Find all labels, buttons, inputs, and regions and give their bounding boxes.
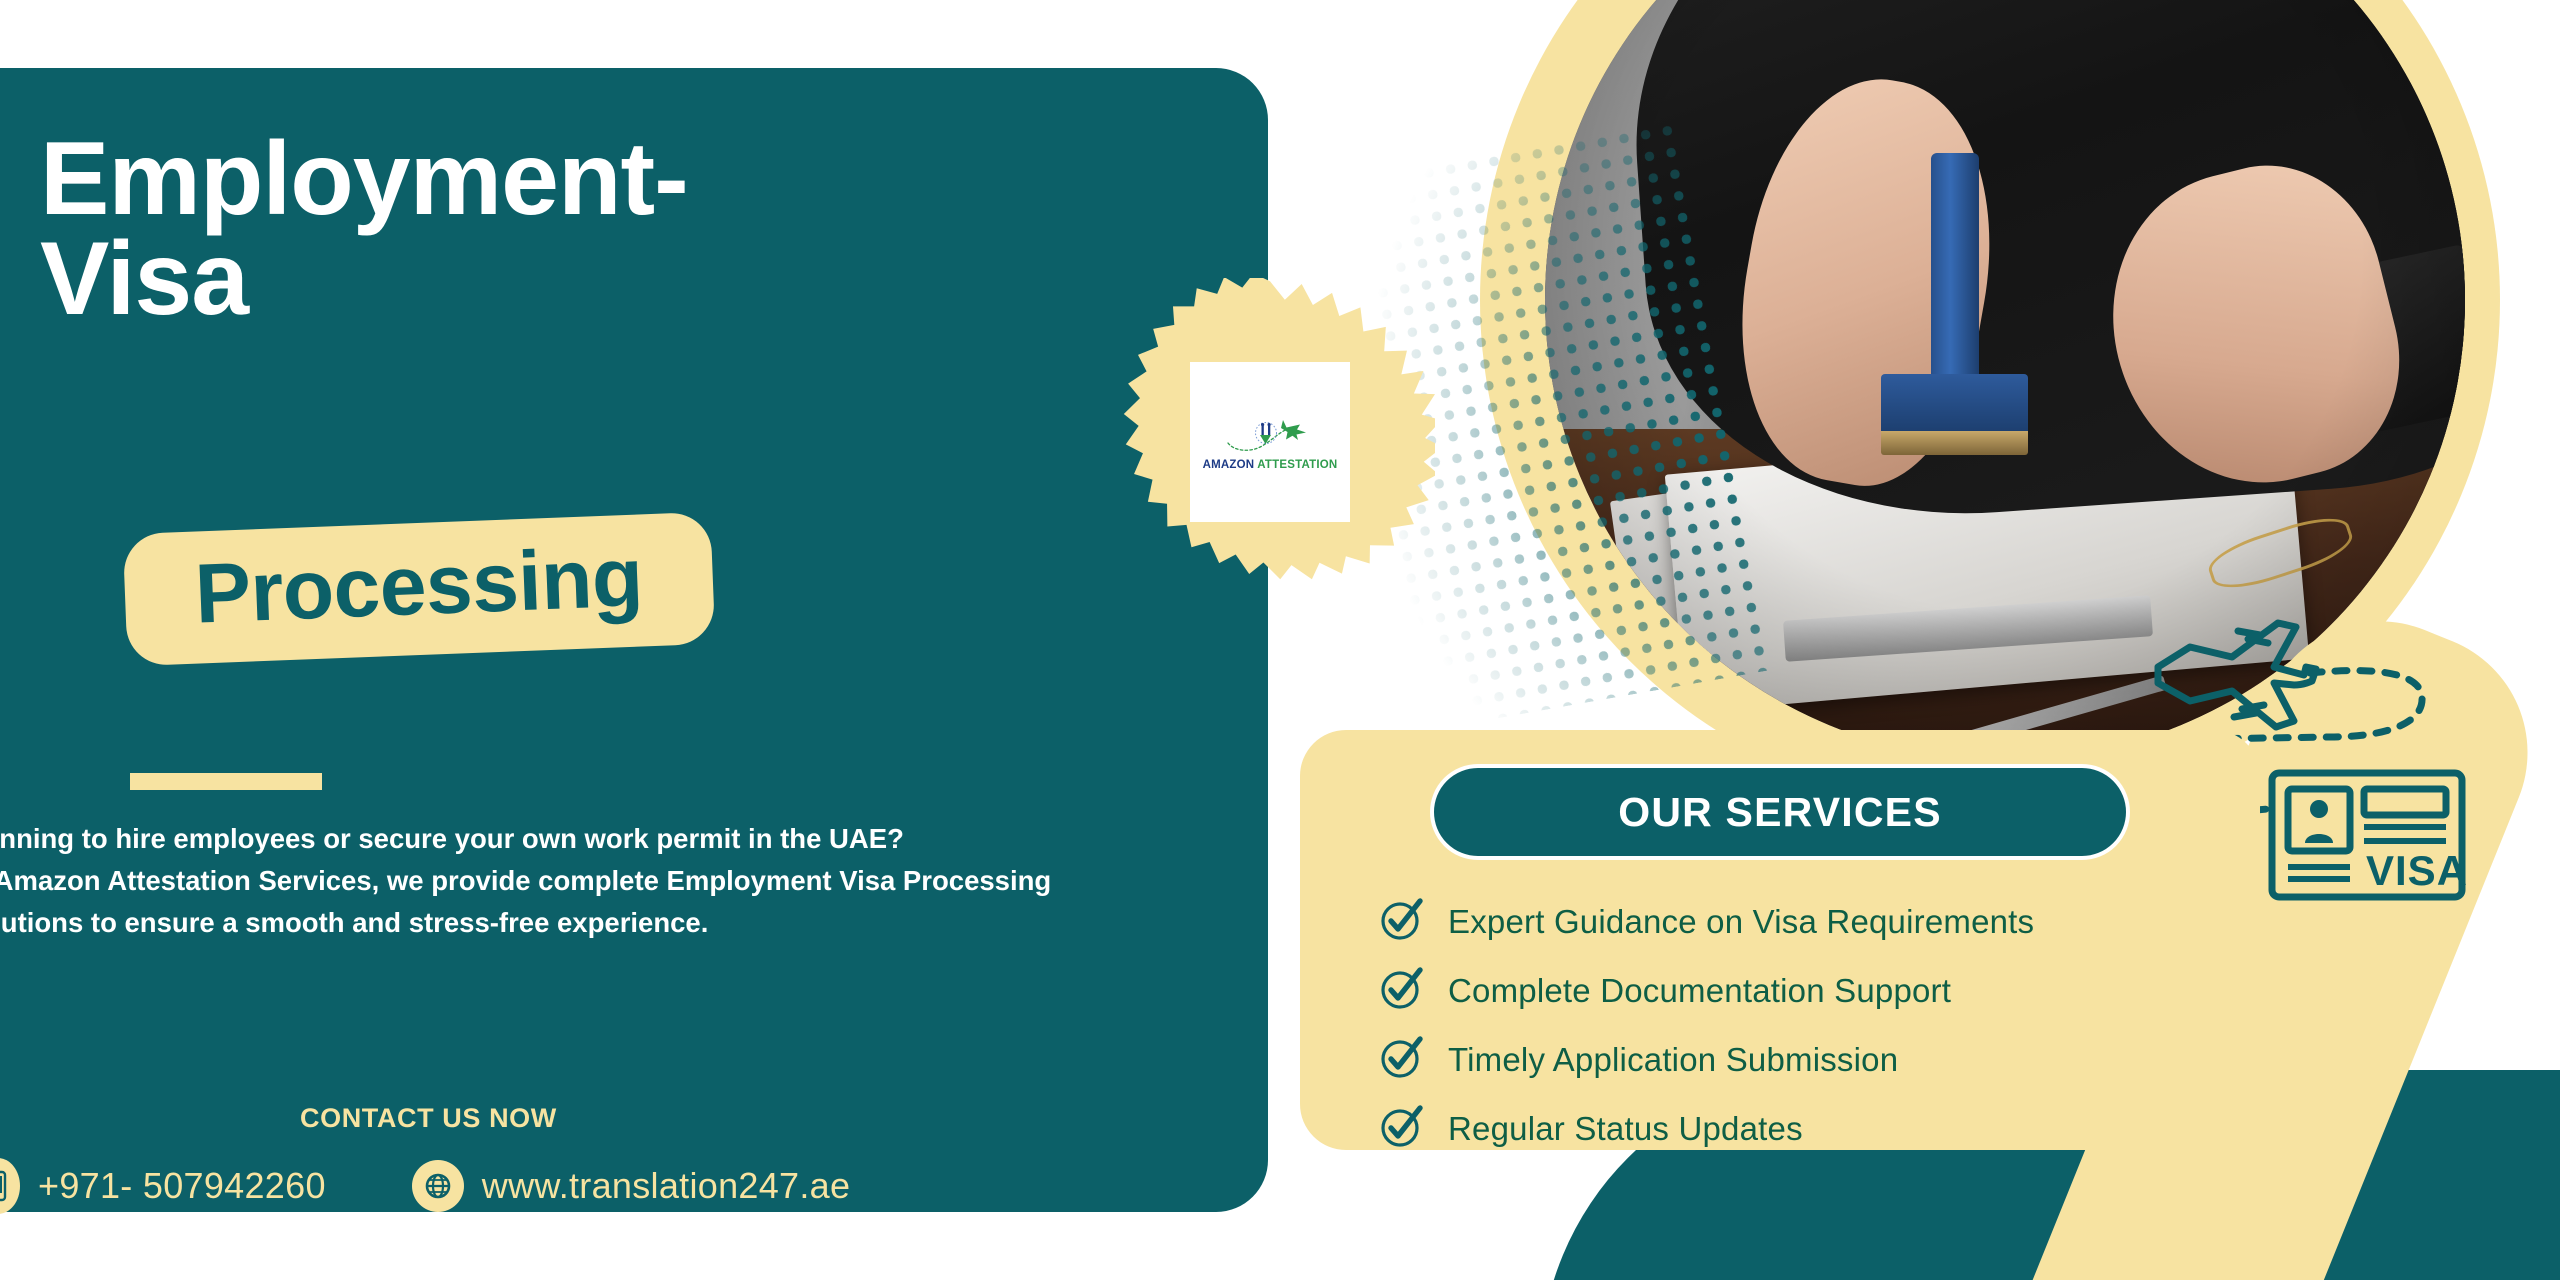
contact-phone[interactable]: +971- 507942260	[0, 1158, 326, 1214]
check-circle-icon	[1378, 1034, 1424, 1085]
list-item-label: Timely Application Submission	[1448, 1041, 1898, 1079]
services-panel: OUR SERVICES Expert Guidance on Visa Req…	[1300, 730, 2260, 1150]
logo-brand-first: AMAZON	[1203, 459, 1255, 471]
left-content-panel: Employment- Visa Processing Planning to …	[0, 68, 1268, 1212]
body-copy: Planning to hire employees or secure you…	[0, 818, 1148, 943]
list-item[interactable]: Expert Guidance on Visa Requirements	[1378, 896, 2260, 947]
list-item[interactable]: Complete Documentation Support	[1378, 965, 2260, 1016]
phone-number: +971- 507942260	[38, 1165, 326, 1207]
list-item-label: Expert Guidance on Visa Requirements	[1448, 903, 2034, 941]
title-line-1: Employment-	[40, 130, 1140, 230]
check-circle-icon	[1378, 896, 1424, 947]
website-url: www.translation247.ae	[482, 1165, 851, 1207]
list-item-label: Regular Status Updates	[1448, 1110, 1803, 1148]
services-list: Expert Guidance on Visa Requirements Com…	[1378, 896, 2260, 1154]
list-item[interactable]: Regular Status Updates	[1378, 1103, 2260, 1154]
services-heading: OUR SERVICES	[1430, 764, 2130, 860]
processing-pill: Processing	[123, 512, 716, 667]
contact-row: +971- 507942260 www.translation247.ae	[0, 1158, 1156, 1214]
logo-wordmark: AMAZON ATTESTATION	[1203, 459, 1338, 471]
list-item-label: Complete Documentation Support	[1448, 972, 1951, 1010]
logo-brand-second: ATTESTATION	[1257, 459, 1337, 471]
title-line-2: Visa	[40, 230, 1140, 330]
contact-website[interactable]: www.translation247.ae	[412, 1160, 851, 1212]
check-circle-icon	[1378, 1103, 1424, 1154]
amazon-attestation-logo: AMAZON ATTESTATION	[1190, 362, 1350, 522]
check-circle-icon	[1378, 965, 1424, 1016]
airplane-dotted-route-icon	[1224, 413, 1316, 457]
list-item[interactable]: Timely Application Submission	[1378, 1034, 2260, 1085]
body-paragraph-1: Planning to hire employees or secure you…	[0, 818, 1148, 860]
banner-root: Employment- Visa Processing Planning to …	[0, 0, 2560, 1280]
divider-bar	[130, 773, 322, 790]
airplane-icon	[2158, 623, 2316, 727]
visa-card-label: VISA	[2366, 847, 2468, 894]
page-title: Employment- Visa	[40, 130, 1140, 330]
body-paragraph-2: At Amazon Attestation Services, we provi…	[0, 860, 1148, 944]
contact-heading: CONTACT US NOW	[300, 1103, 557, 1134]
globe-icon	[412, 1160, 464, 1212]
mobile-phone-icon	[0, 1158, 20, 1214]
